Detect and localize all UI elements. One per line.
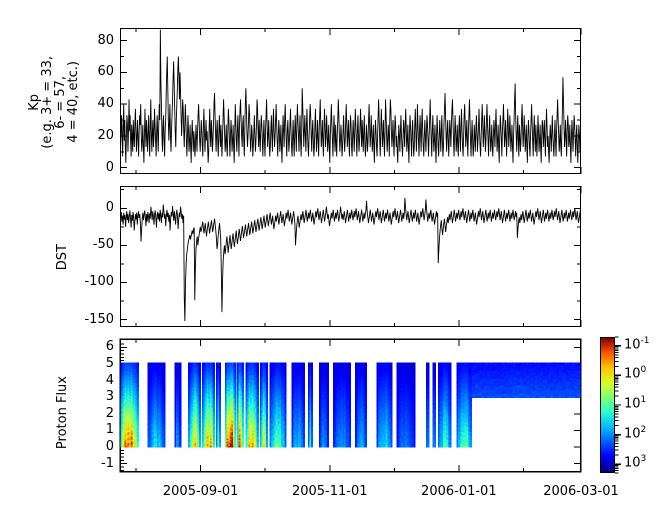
dst-ytick--150: -150 xyxy=(68,312,114,327)
xtick-2: 2006-01-01 xyxy=(404,484,514,499)
flux-ytick-5: 5 xyxy=(68,356,114,371)
colorbar-tick-mantissa: 10 xyxy=(624,396,641,411)
flux-ytick-6: 6 xyxy=(68,339,114,354)
flux-ytick-1: 1 xyxy=(68,422,114,437)
colorbar-tick-4: 10-1 xyxy=(624,336,650,352)
colorbar-tick-exponent: 2 xyxy=(641,425,647,435)
figure-canvas: Kp (e.g. 3+ = 33, 6- = 57, 4 = 40, etc.)… xyxy=(0,0,665,523)
kp-ytick-0: 0 xyxy=(68,160,114,175)
colorbar-tick-mantissa: 10 xyxy=(624,455,641,470)
dst-ytick--50: -50 xyxy=(68,237,114,252)
colorbar-tick-0: 103 xyxy=(624,454,646,470)
dst-ytick--100: -100 xyxy=(68,274,114,289)
colorbar-tick-exponent: -1 xyxy=(641,336,650,346)
colorbar-tick-exponent: 1 xyxy=(641,395,647,405)
kp-ytick-60: 60 xyxy=(68,64,114,79)
colorbar-tick-exponent: 3 xyxy=(641,454,647,464)
colorbar-tick-3: 100 xyxy=(624,365,646,381)
kp-ytick-20: 20 xyxy=(68,128,114,143)
colorbar-tick-mantissa: 10 xyxy=(624,426,641,441)
xtick-3: 2006-03-01 xyxy=(526,484,636,499)
colorbar-tick-1: 102 xyxy=(624,425,646,441)
colorbar-tick-mantissa: 10 xyxy=(624,367,641,382)
flux-ytick-2: 2 xyxy=(68,406,114,421)
dst-ytick-0: 0 xyxy=(68,200,114,215)
colorbar-tick-exponent: 0 xyxy=(641,365,647,375)
xtick-1: 2005-11-01 xyxy=(275,484,385,499)
flux-ytick-0: 0 xyxy=(68,439,114,454)
xtick-0: 2005-09-01 xyxy=(146,484,256,499)
kp-ytick-80: 80 xyxy=(68,33,114,48)
flux-ytick--1: -1 xyxy=(68,456,114,471)
colorbar-tick-2: 101 xyxy=(624,395,646,411)
kp-ytick-40: 40 xyxy=(68,96,114,111)
flux-ytick-3: 3 xyxy=(68,389,114,404)
colorbar-tick-mantissa: 10 xyxy=(624,337,641,352)
flux-ytick-4: 4 xyxy=(68,373,114,388)
